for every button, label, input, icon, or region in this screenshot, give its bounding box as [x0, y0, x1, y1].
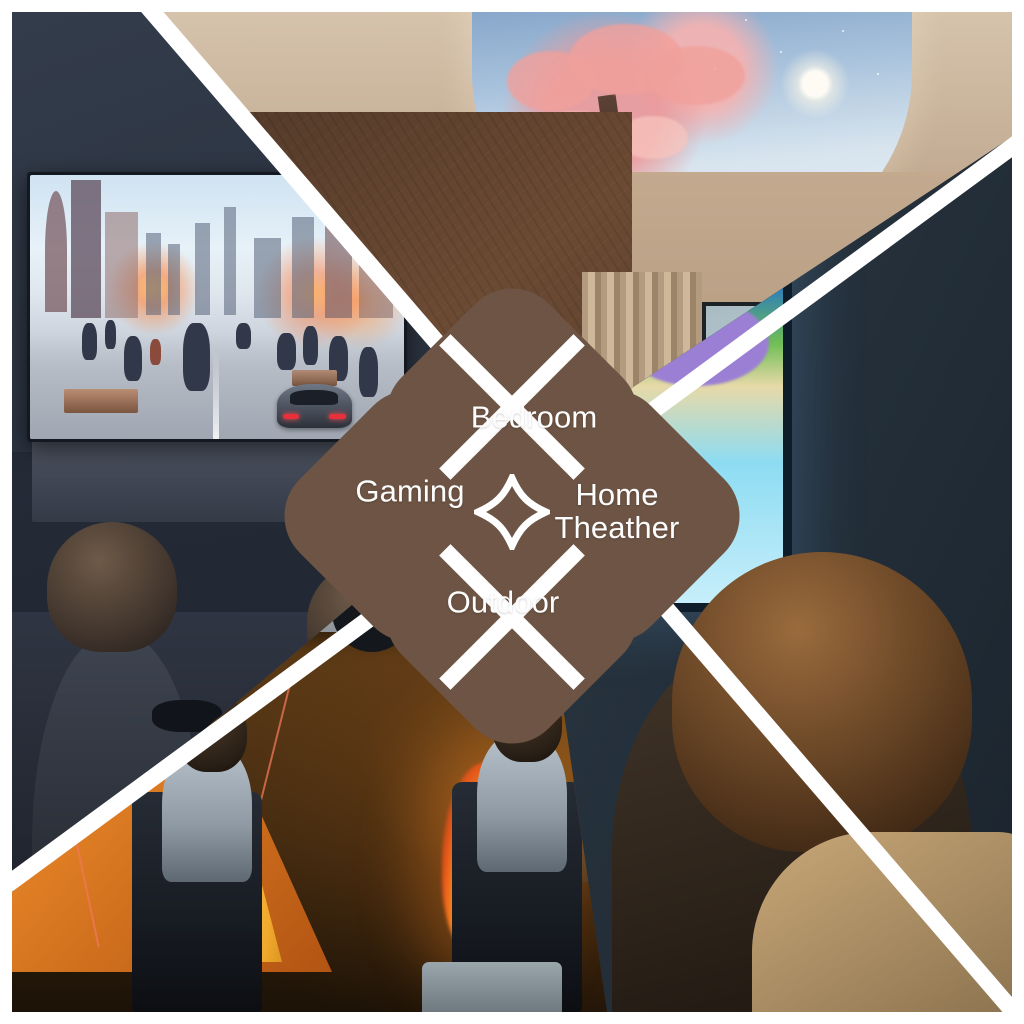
collage-graphic: Bedroom Gaming Home Theather Outdoor: [0, 0, 1024, 1024]
